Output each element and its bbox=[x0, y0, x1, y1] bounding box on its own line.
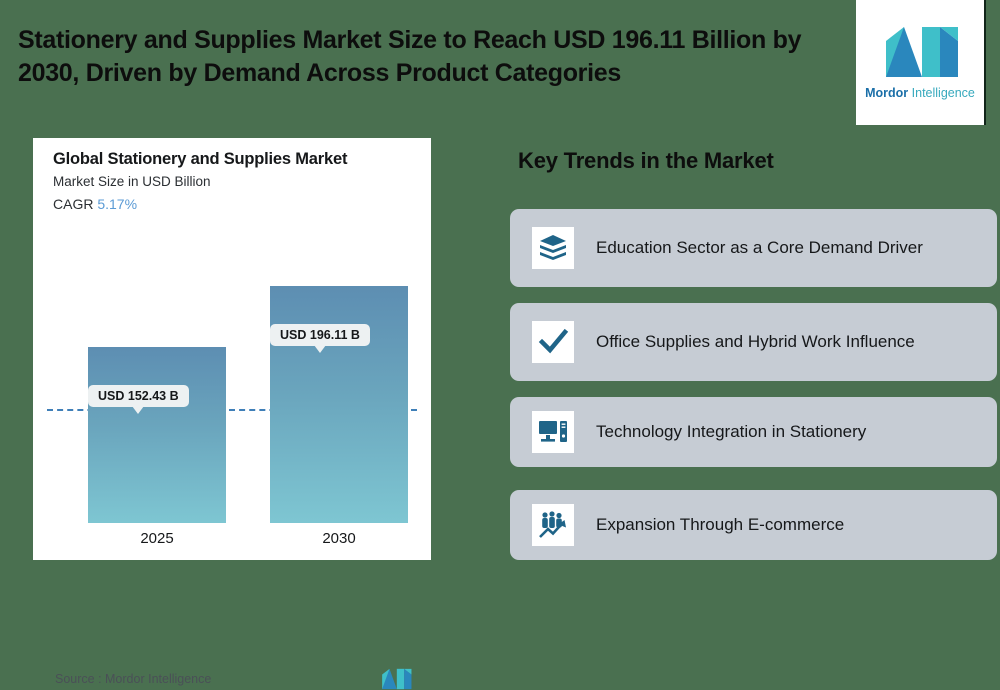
trend-card-ecommerce[interactable]: Expansion Through E-commerce bbox=[510, 490, 997, 560]
x-tick-2030: 2030 bbox=[270, 530, 408, 547]
x-tick-2025: 2025 bbox=[88, 530, 226, 547]
chart-title: Global Stationery and Supplies Market bbox=[53, 150, 347, 169]
bar-2030 bbox=[270, 286, 408, 523]
checkmark-icon bbox=[532, 321, 574, 363]
cagr-value: 5.17% bbox=[97, 196, 137, 212]
bar-2025 bbox=[88, 347, 226, 523]
cagr-label: CAGR bbox=[53, 196, 93, 212]
brand-logo: Mordor Intelligence bbox=[856, 0, 986, 125]
source-logo-icon bbox=[378, 668, 414, 690]
chart-subtitle: Market Size in USD Billion bbox=[53, 174, 211, 189]
trend-label: Technology Integration in Stationery bbox=[596, 421, 866, 444]
trend-card-education[interactable]: Education Sector as a Core Demand Driver bbox=[510, 209, 997, 287]
trend-card-office-supplies[interactable]: Office Supplies and Hybrid Work Influenc… bbox=[510, 303, 997, 381]
brand-word-mordor: Mordor bbox=[865, 86, 908, 100]
bar-value-label-2030: USD 196.11 B bbox=[270, 324, 370, 346]
bar-plot-area: USD 152.43 B USD 196.11 B bbox=[33, 233, 431, 523]
trend-label: Education Sector as a Core Demand Driver bbox=[596, 237, 923, 260]
desktop-computer-icon bbox=[532, 411, 574, 453]
chart-cagr: CAGR 5.17% bbox=[53, 196, 137, 212]
trends-heading: Key Trends in the Market bbox=[518, 148, 774, 174]
bar-value-label-2025: USD 152.43 B bbox=[88, 385, 189, 407]
brand-word-intelligence: Intelligence bbox=[908, 86, 975, 100]
trend-label: Expansion Through E-commerce bbox=[596, 514, 844, 537]
trend-label: Office Supplies and Hybrid Work Influenc… bbox=[596, 331, 915, 354]
trend-card-technology[interactable]: Technology Integration in Stationery bbox=[510, 397, 997, 467]
brand-wordmark: Mordor Intelligence bbox=[865, 86, 975, 100]
page-title: Stationery and Supplies Market Size to R… bbox=[18, 24, 848, 90]
mordor-intelligence-logo-icon bbox=[882, 25, 958, 79]
chart-source: Source : Mordor Intelligence bbox=[55, 672, 211, 686]
people-growth-arrow-icon bbox=[532, 504, 574, 546]
books-stack-icon bbox=[532, 227, 574, 269]
chart-card: Global Stationery and Supplies Market Ma… bbox=[33, 138, 431, 560]
